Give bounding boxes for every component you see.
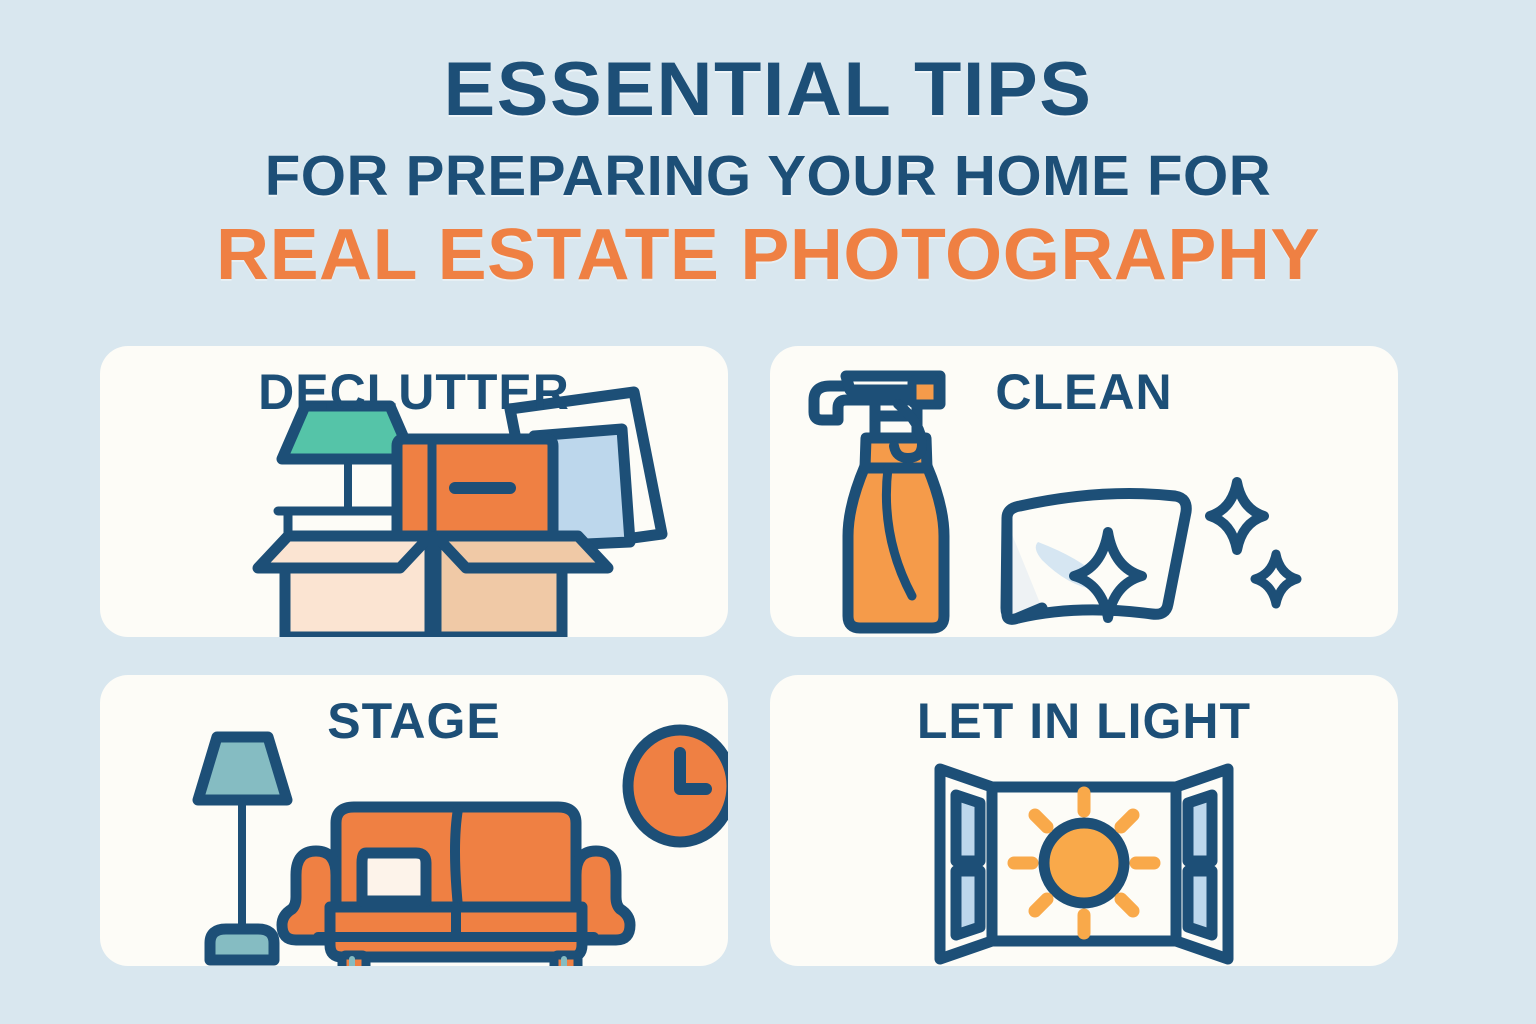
sparkle-large-icon <box>1210 482 1264 550</box>
floor-lamp-shade-icon <box>198 737 287 800</box>
tip-card-declutter-surface <box>100 346 728 637</box>
floor-lamp-base-icon <box>210 929 274 960</box>
box-flap-right-icon <box>436 536 608 568</box>
tip-card-clean-surface <box>770 346 1398 637</box>
page-header: Essential Tips for Preparing Your Home f… <box>0 0 1536 291</box>
box-flap-left-icon <box>258 536 430 568</box>
tip-card-stage-surface <box>100 675 728 966</box>
page-title-line2: for Preparing Your Home for <box>0 148 1536 205</box>
spray-nozzle-tip-icon <box>912 380 938 404</box>
left-pane-upper-icon <box>956 795 980 861</box>
tip-card-clean[interactable]: Clean <box>770 346 1398 637</box>
page-title-line1: Essential Tips <box>0 52 1536 128</box>
right-pane-upper-icon <box>1188 795 1212 861</box>
infographic-canvas: Essential Tips for Preparing Your Home f… <box>0 0 1536 1024</box>
tips-grid: Declutter <box>100 346 1398 966</box>
page-title-line3: Real Estate Photography <box>0 219 1536 291</box>
sparkle-small-icon <box>1255 554 1297 604</box>
tip-card-declutter[interactable]: Declutter <box>100 346 728 637</box>
declutter-illustration <box>100 346 728 637</box>
tip-card-let-in-light-surface <box>770 675 1398 966</box>
tip-card-let-in-light[interactable]: Let In Light <box>770 675 1398 966</box>
stage-illustration <box>100 675 728 966</box>
right-pane-lower-icon <box>1188 871 1212 935</box>
clean-illustration <box>770 346 1398 637</box>
let-in-light-illustration <box>770 675 1398 966</box>
left-pane-lower-icon <box>956 871 980 935</box>
tip-card-stage[interactable]: Stage <box>100 675 728 966</box>
throw-pillow-icon <box>362 853 426 901</box>
sun-disc-icon <box>1044 823 1124 903</box>
